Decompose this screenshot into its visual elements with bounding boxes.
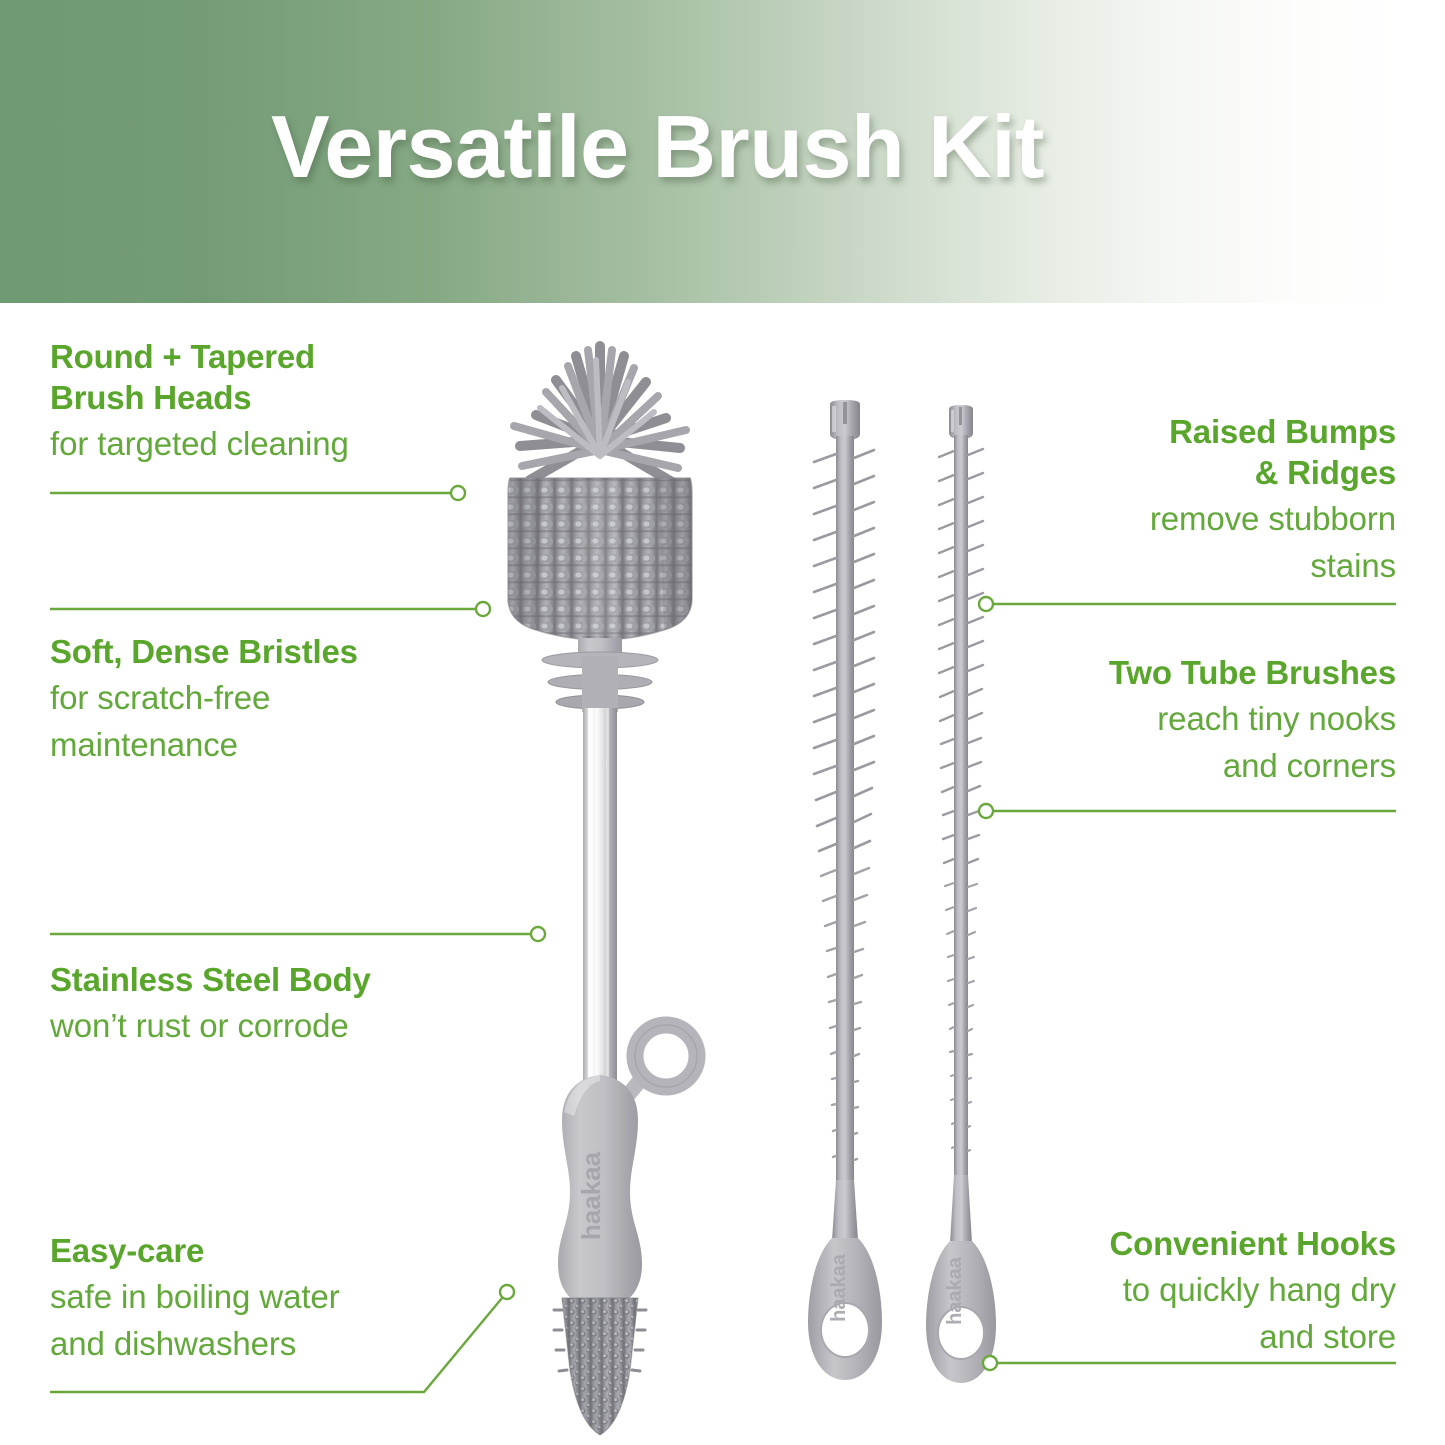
brand-emboss-tube-large: haakaa <box>828 1253 850 1322</box>
callout-sub-line1: for targeted cleaning <box>50 421 490 468</box>
callout-sub-line1: won’t rust or corrode <box>50 1003 510 1050</box>
callout-title-line1: Easy-care <box>50 1231 510 1272</box>
callout-round-tapered-brush-heads: Round + Tapered Brush Heads for targeted… <box>50 337 490 468</box>
silicone-handle: haakaa <box>558 1075 642 1310</box>
callout-sub-line2: and corners <box>946 743 1396 790</box>
callout-title-line1: Convenient Hooks <box>946 1224 1396 1265</box>
callout-title-line1: Soft, Dense Bristles <box>50 632 490 673</box>
round-brush-head-body <box>508 478 692 640</box>
callout-sub-line1: reach tiny nooks <box>946 696 1396 743</box>
callout-title-line1: Stainless Steel Body <box>50 960 510 1001</box>
callout-sub-line1: to quickly hang dry <box>946 1267 1396 1314</box>
callout-title-line2: & Ridges <box>946 453 1396 494</box>
infographic-page: Versatile Brush Kit <box>0 0 1445 1445</box>
tube-brush-cap <box>830 400 860 440</box>
callout-title-line2: Brush Heads <box>50 378 490 419</box>
hanging-hook: haakaa <box>808 1238 882 1380</box>
brand-emboss-handle: haakaa <box>576 1151 606 1240</box>
tapered-brush-head <box>554 1298 646 1435</box>
callout-sub-line1: remove stubborn <box>946 496 1396 543</box>
callout-sub-line1: safe in boiling water <box>50 1274 510 1321</box>
stainless-steel-shaft <box>583 708 617 1080</box>
callout-title-line1: Round + Tapered <box>50 337 490 378</box>
callout-convenient-hooks: Convenient Hooks to quickly hang dry and… <box>946 1224 1396 1361</box>
brush-head-collar <box>542 638 658 712</box>
round-brush-head-tips <box>514 346 686 482</box>
callout-stainless-steel-body: Stainless Steel Body won’t rust or corro… <box>50 960 510 1050</box>
tube-brush-shaft <box>836 436 854 1246</box>
callout-sub-line2: and dishwashers <box>50 1321 510 1368</box>
callout-soft-dense-bristles: Soft, Dense Bristles for scratch-free ma… <box>50 632 490 769</box>
tube-brush-large: haakaa <box>800 400 890 1410</box>
callout-sub-line2: and store <box>946 1314 1396 1361</box>
callout-two-tube-brushes: Two Tube Brushes reach tiny nooks and co… <box>946 653 1396 790</box>
callout-sub-line2: stains <box>946 543 1396 590</box>
callout-title-line1: Two Tube Brushes <box>946 653 1396 694</box>
callout-raised-bumps-ridges: Raised Bumps & Ridges remove stubborn st… <box>946 412 1396 590</box>
callout-easy-care: Easy-care safe in boiling water and dish… <box>50 1231 510 1368</box>
callout-sub-line1: for scratch-free <box>50 675 490 722</box>
callout-sub-line2: maintenance <box>50 722 490 769</box>
callout-title-line1: Raised Bumps <box>946 412 1396 453</box>
